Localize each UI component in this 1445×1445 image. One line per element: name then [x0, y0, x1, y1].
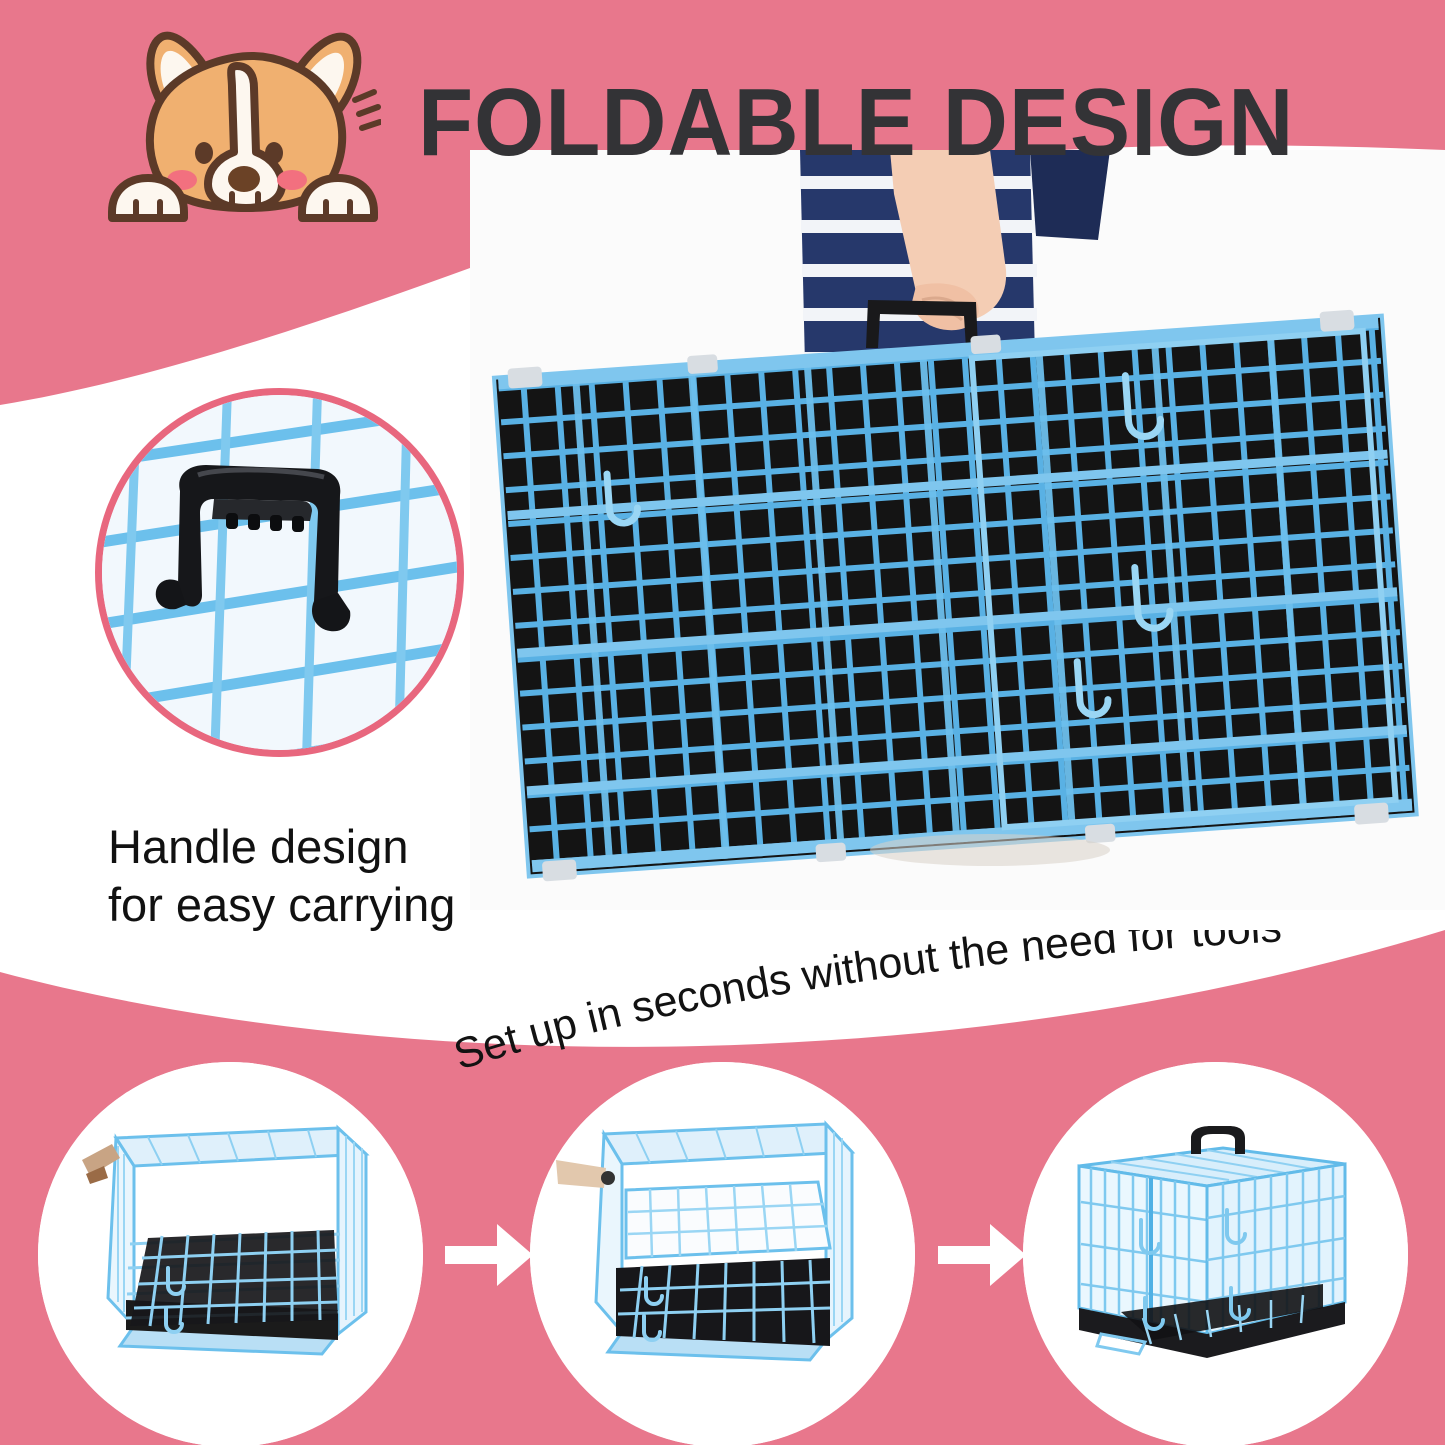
corgi-dog-logo	[96, 22, 381, 222]
motion-lines-icon	[355, 92, 380, 128]
hero-photo-folded-crate	[470, 150, 1445, 910]
step-2-circle	[530, 1062, 915, 1445]
step-3-image	[1023, 1062, 1408, 1445]
infographic-page: FOLDABLE DESIGN	[0, 0, 1445, 1445]
header: FOLDABLE DESIGN	[0, 0, 1445, 250]
curved-subtitle-text: Set up in seconds without the need for t…	[448, 930, 1283, 1080]
step-2-image	[530, 1062, 915, 1445]
handle-closeup-image	[102, 395, 457, 750]
arrow-right-icon	[936, 1212, 1028, 1298]
handle-caption-line1: Handle design	[108, 818, 528, 876]
curved-subtitle: Set up in seconds without the need for t…	[440, 930, 1445, 1080]
arrow-right-icon	[443, 1212, 535, 1298]
assembled-crate	[1079, 1126, 1345, 1358]
step-1-circle	[38, 1062, 423, 1445]
step-1-image	[38, 1062, 423, 1445]
step-3-circle	[1023, 1062, 1408, 1445]
handle-caption: Handle design for easy carrying	[108, 818, 528, 934]
folded-crate	[493, 308, 1417, 883]
handle-caption-line2: for easy carrying	[108, 876, 528, 934]
handle-detail-circle	[95, 388, 464, 757]
page-title: FOLDABLE DESIGN	[418, 58, 1255, 188]
